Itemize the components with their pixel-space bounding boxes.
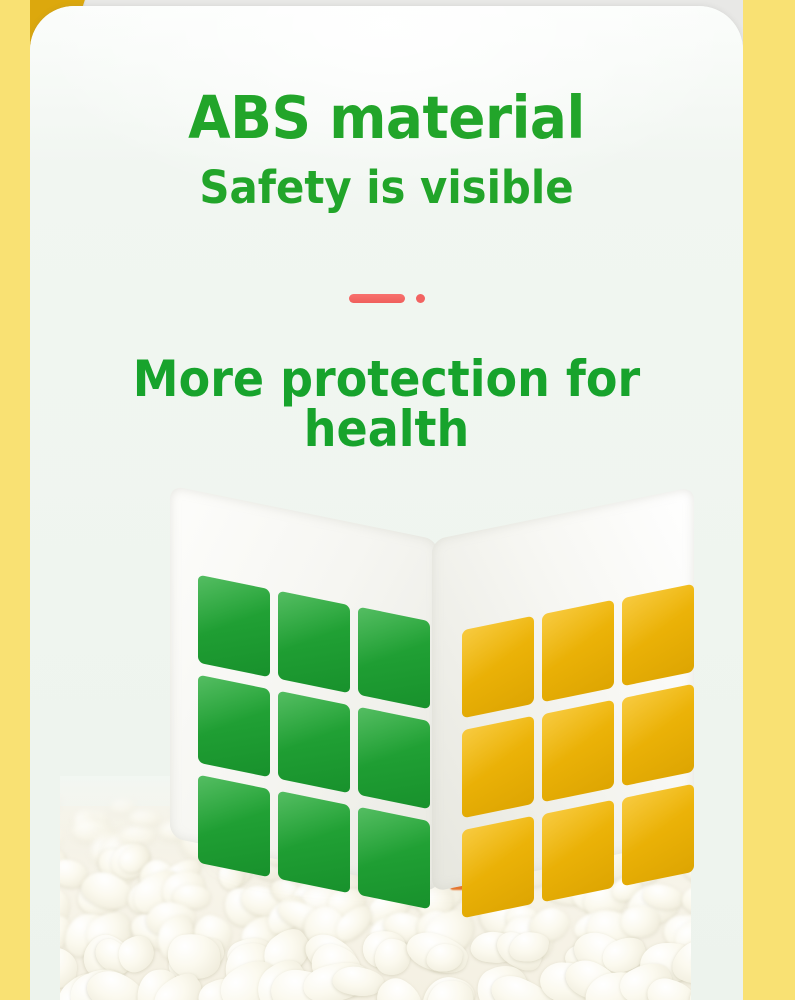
sticker-sheen: [622, 683, 694, 786]
cube-sticker-left-3: [358, 607, 430, 710]
cube-sticker-left-2: [278, 591, 350, 694]
abs-pellet: [129, 810, 160, 827]
sticker-sheen: [462, 616, 534, 719]
cube-sticker-right-7: [462, 816, 534, 919]
page-title: ABS material: [55, 88, 718, 147]
sticker-sheen: [198, 774, 270, 877]
cube-sticker-left-8: [278, 791, 350, 894]
product-detail-canvas: ABS material Safety is visible More prot…: [0, 0, 795, 1000]
page-frame-left-rail: [0, 0, 30, 1000]
sticker-sheen: [198, 574, 270, 677]
sticker-sheen: [622, 783, 694, 886]
sticker-sheen: [358, 707, 430, 810]
cube-sticker-right-8: [542, 800, 614, 903]
cube-sticker-left-5: [278, 691, 350, 794]
sticker-sheen: [542, 700, 614, 803]
sticker-sheen: [278, 791, 350, 894]
cube-sticker-right-9: [622, 783, 694, 886]
sticker-sheen: [542, 600, 614, 703]
cube-sticker-left-1: [198, 574, 270, 677]
cube-sticker-right-6: [622, 683, 694, 786]
cube-sticker-left-6: [358, 707, 430, 810]
speed-cube-product: [170, 530, 694, 902]
cube-sticker-right-5: [542, 700, 614, 803]
cube-sticker-right-2: [542, 600, 614, 703]
section-divider: [30, 294, 743, 303]
page-frame-right-rail: [743, 0, 795, 1000]
sticker-sheen: [278, 691, 350, 794]
divider-dot: [416, 294, 425, 303]
product-feature-card: ABS material Safety is visible More prot…: [30, 6, 743, 1000]
cube-sticker-right-4: [462, 716, 534, 819]
cube-sticker-left-7: [198, 774, 270, 877]
sticker-sheen: [462, 816, 534, 919]
sticker-sheen: [278, 591, 350, 694]
cube-sticker-right-1: [462, 616, 534, 719]
divider-bar: [349, 294, 405, 303]
feature-tagline: More protection for health: [59, 354, 715, 454]
sticker-sheen: [198, 674, 270, 777]
sticker-sheen: [358, 807, 430, 910]
sticker-sheen: [622, 583, 694, 686]
page-subtitle: Safety is visible: [55, 165, 718, 210]
sticker-sheen: [462, 716, 534, 819]
cube-sticker-right-3: [622, 583, 694, 686]
hero-text-block: ABS material Safety is visible: [30, 88, 743, 210]
cube-sticker-left-4: [198, 674, 270, 777]
cube-sticker-left-9: [358, 807, 430, 910]
sticker-sheen: [542, 800, 614, 903]
sticker-sheen: [358, 607, 430, 710]
